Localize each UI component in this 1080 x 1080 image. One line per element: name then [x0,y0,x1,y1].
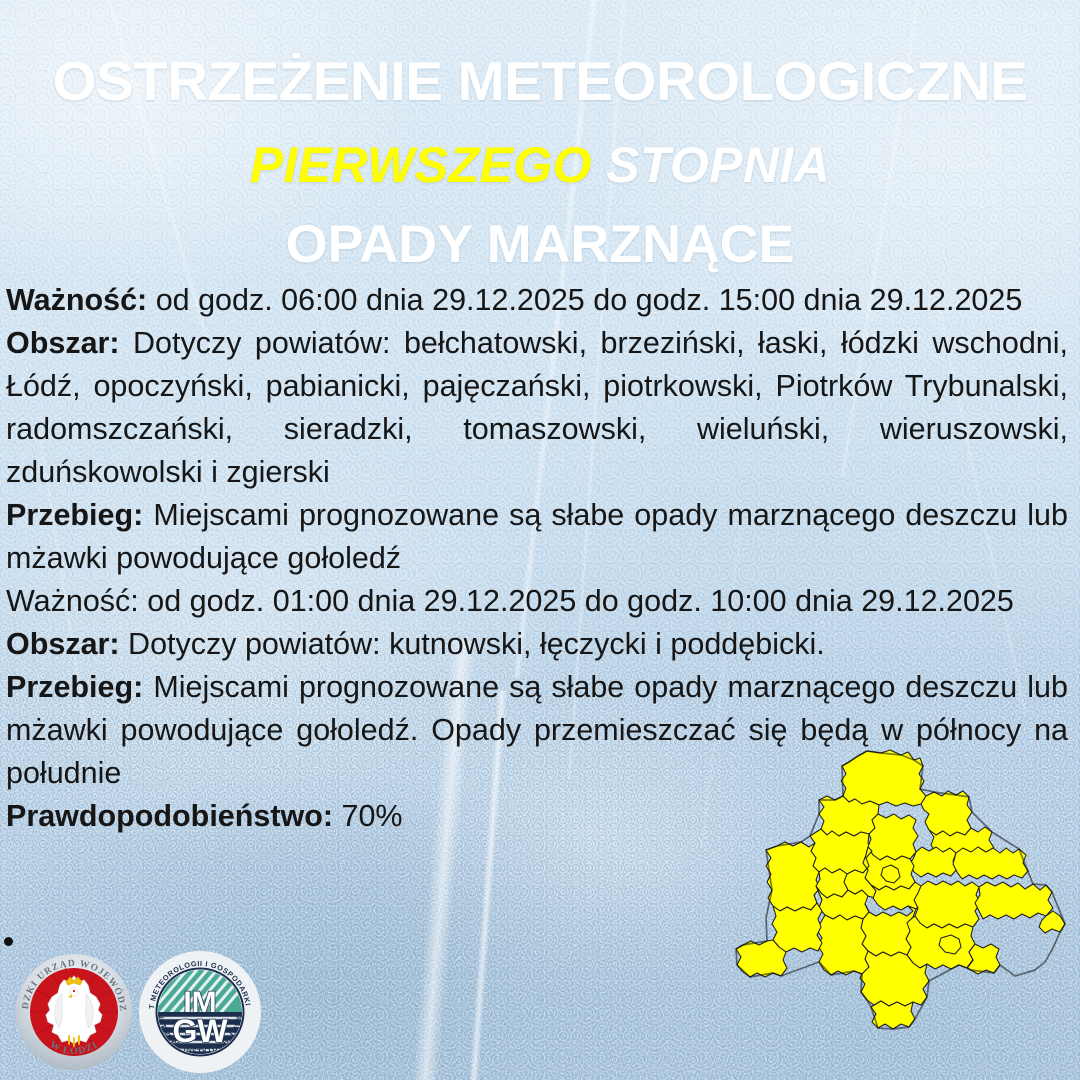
warning1-course: Przebieg: Miejscami prognozowane są słab… [6,494,1068,580]
county-polygons [736,750,1065,1029]
warning1-validity: Ważność: od godz. 06:00 dnia 29.12.2025 … [6,279,1068,322]
warning2-area-value: Dotyczy powiatów: kutnowski, łęczycki i … [120,627,825,661]
probability-value: 70% [333,799,403,833]
warning2-course-label: Przebieg: [6,670,143,704]
title-degree-rest: STOPNIA [592,137,830,193]
warning1-validity-value: od godz. 06:00 dnia 29.12.2025 do godz. … [147,283,1022,317]
warning1-course-value: Miejscami prognozowane są słabe opady ma… [6,498,1068,575]
title-line-phenomenon: OPADY MARZNĄCE [0,218,1080,271]
imgw-logo: IM GW • INSTYTUT METEOROLOGII I GOSPODAR… [138,950,262,1074]
warning1-area-label: Obszar: [6,326,120,360]
warning2-area: Obszar: Dotyczy powiatów: kutnowski, łęc… [6,623,1068,666]
warning1-validity-label: Ważność: [6,283,147,317]
warning1-course-label: Przebieg: [6,498,143,532]
stray-dot-marker [4,937,13,946]
title-line-warning: OSTRZEŻENIE METEOROLOGICZNE [0,54,1080,109]
voivodeship-logo-svg: ŁÓDZKI URZĄD WOJEWÓDZKI W ŁODZI [14,952,134,1072]
warning1-area: Obszar: Dotyczy powiatów: bełchatowski, … [6,322,1068,494]
title-degree-highlight: PIERWSZEGO [250,137,592,193]
probability-label: Prawdopodobieństwo: [6,799,333,833]
title-line-degree: PIERWSZEGO STOPNIA [0,140,1080,190]
lodz-voivodeship-map [715,748,1075,1078]
lodzki-urzad-wojewodzki-logo: ŁÓDZKI URZĄD WOJEWÓDZKI W ŁODZI [14,952,134,1072]
imgw-logo-svg: IM GW • INSTYTUT METEOROLOGII I GOSPODAR… [138,950,262,1074]
warning2-validity: Ważność: od godz. 01:00 dnia 29.12.2025 … [6,580,1068,623]
warning2-area-label: Obszar: [6,627,120,661]
map-svg [715,748,1075,1078]
weather-warning-poster: OSTRZEŻENIE METEOROLOGICZNE PIERWSZEGO S… [0,0,1080,1080]
warning1-area-value: Dotyczy powiatów: bełchatowski, brzezińs… [6,326,1068,489]
